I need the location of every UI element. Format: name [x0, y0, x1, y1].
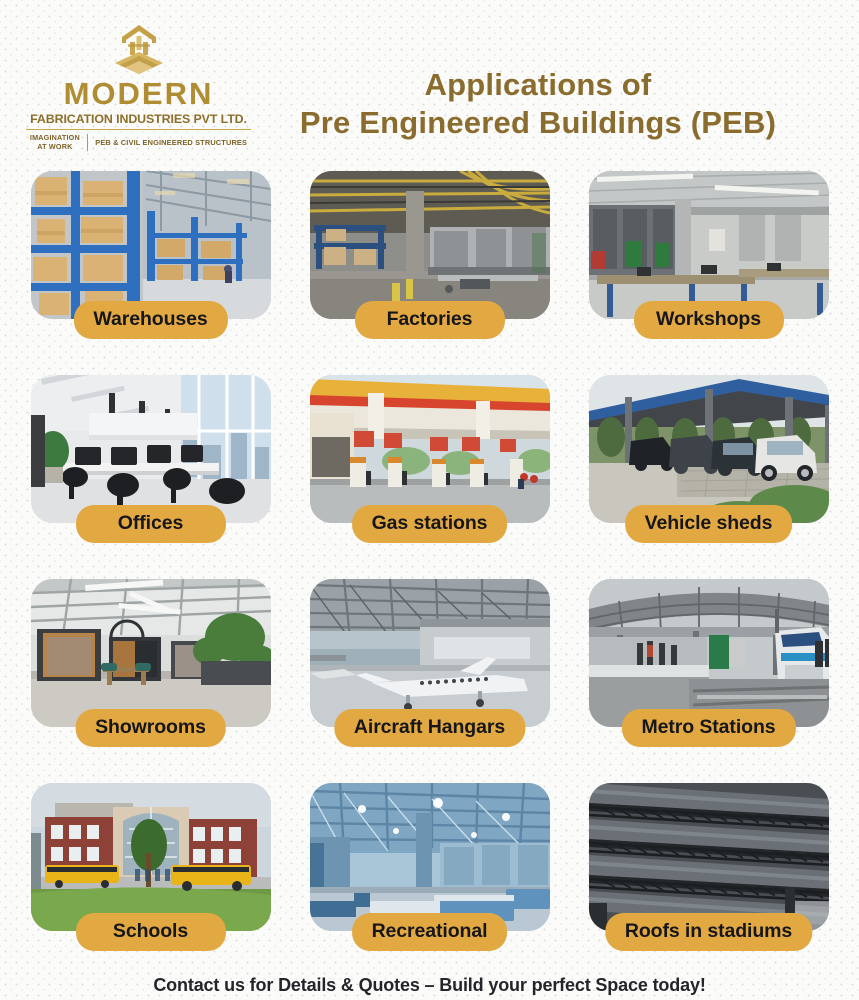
card-label: Showrooms: [75, 709, 226, 747]
page-title: Applications of Pre Engineered Buildings…: [251, 18, 831, 143]
hangar-photo: [310, 579, 550, 727]
application-card-factories[interactable]: Factories: [300, 165, 560, 355]
tagline-left-line2: AT WORK: [30, 143, 80, 151]
tagline-left: IMAGINATION AT WORK: [30, 134, 80, 151]
card-label: Workshops: [634, 301, 784, 339]
footer-cta: Contact us for Details & Quotes – Build …: [0, 975, 859, 996]
card-label: Warehouses: [73, 301, 227, 339]
card-label: Vehicle sheds: [625, 505, 793, 543]
application-card-recreational[interactable]: Recreational: [300, 777, 560, 967]
title-line-2: Pre Engineered Buildings (PEB): [251, 104, 825, 142]
application-card-warehouses[interactable]: Warehouses: [21, 165, 281, 355]
workshop-photo: [589, 171, 829, 319]
page-header: MODERN FABRICATION INDUSTRIES PVT LTD. I…: [0, 0, 859, 165]
applications-grid: Warehouses: [0, 165, 859, 967]
application-card-showrooms[interactable]: Showrooms: [21, 573, 281, 763]
warehouse-photo: [31, 171, 271, 319]
application-card-roofs-in-stadiums[interactable]: Roofs in stadiums: [579, 777, 839, 967]
vehicleshed-photo: [589, 375, 829, 523]
company-logo-icon: [26, 22, 251, 76]
application-card-offices[interactable]: Offices: [21, 369, 281, 559]
card-label: Roofs in stadiums: [605, 913, 812, 951]
school-photo: [31, 783, 271, 931]
card-label: Aircraft Hangars: [334, 709, 525, 747]
tagline-right: PEB & CIVIL ENGINEERED STRUCTURES: [95, 138, 247, 147]
application-card-metro-stations[interactable]: Metro Stations: [579, 573, 839, 763]
factory-photo: [310, 171, 550, 319]
title-line-1: Applications of: [251, 66, 825, 104]
card-label: Factories: [355, 301, 505, 339]
brand-tagline: IMAGINATION AT WORK PEB & CIVIL ENGINEER…: [26, 134, 251, 151]
brand-subtitle: FABRICATION INDUSTRIES PVT LTD.: [26, 112, 251, 130]
showroom-photo: [31, 579, 271, 727]
card-label: Offices: [76, 505, 226, 543]
card-label: Gas stations: [352, 505, 508, 543]
application-card-schools[interactable]: Schools: [21, 777, 281, 967]
application-card-workshops[interactable]: Workshops: [579, 165, 839, 355]
application-card-aircraft-hangars[interactable]: Aircraft Hangars: [300, 573, 560, 763]
brand-name: MODERN: [26, 78, 251, 109]
card-label: Recreational: [352, 913, 508, 951]
tagline-divider: [87, 134, 88, 151]
recreational-photo: [310, 783, 550, 931]
application-card-vehicle-sheds[interactable]: Vehicle sheds: [579, 369, 839, 559]
application-card-gas-stations[interactable]: Gas stations: [300, 369, 560, 559]
card-label: Metro Stations: [621, 709, 795, 747]
stadiumroof-photo: [589, 783, 829, 931]
office-photo: [31, 375, 271, 523]
card-label: Schools: [76, 913, 226, 951]
gasstation-photo: [310, 375, 550, 523]
metro-photo: [589, 579, 829, 727]
brand-block: MODERN FABRICATION INDUSTRIES PVT LTD. I…: [26, 18, 251, 151]
